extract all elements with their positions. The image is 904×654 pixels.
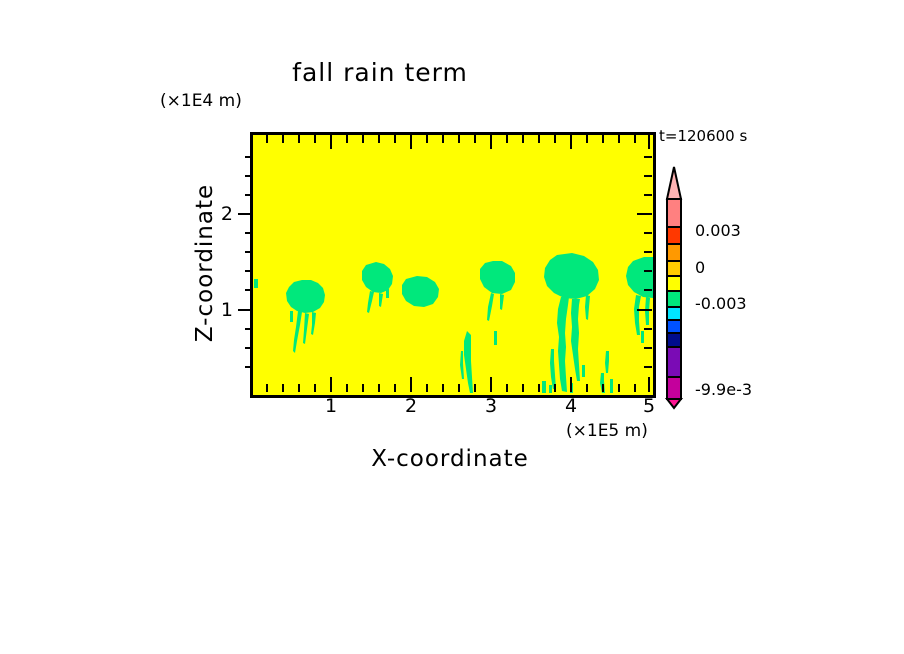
x-minor-tick-top (266, 135, 268, 143)
y-minor-tick (245, 232, 253, 234)
timestamp-label: t=120600 s (659, 127, 747, 145)
feature-streak-7c (610, 379, 613, 393)
x-minor-tick-top (362, 135, 364, 143)
x-minor-tick (538, 384, 540, 392)
feature-streak-6h (582, 365, 585, 377)
x-minor-tick (474, 384, 476, 392)
feature-streak-2c (386, 289, 389, 298)
y-minor-tick-right (644, 251, 652, 253)
colorbar-tick-label-3: -9.9e-3 (695, 380, 752, 399)
y-minor-tick (245, 270, 253, 272)
x-major-tick-top-4 (570, 135, 572, 149)
x-minor-tick (458, 384, 460, 392)
feature-streak-6f (549, 385, 552, 393)
y-minor-tick-right (644, 270, 652, 272)
feature-streak-5c (494, 331, 497, 345)
x-major-tick-top-3 (490, 135, 492, 149)
x-major-tick-2 (410, 377, 412, 392)
x-minor-tick-top (634, 135, 636, 143)
x-minor-tick (586, 384, 588, 392)
x-minor-tick (522, 384, 524, 392)
colorbar-band-9 (667, 333, 681, 347)
y-minor-tick-right (644, 156, 652, 158)
colorbar (663, 165, 685, 410)
x-minor-tick (314, 384, 316, 392)
x-minor-tick-top (474, 135, 476, 143)
x-tick-label-1: 1 (311, 395, 351, 417)
x-minor-tick (426, 384, 428, 392)
x-minor-tick (378, 384, 380, 392)
x-major-tick-4 (570, 377, 572, 392)
x-minor-tick-top (586, 135, 588, 143)
contour-plot-figure: fall rain term (×1E4 m) t=120600 s (0, 0, 904, 654)
x-minor-tick-top (458, 135, 460, 143)
colorbar-band-5 (667, 276, 681, 291)
x-minor-tick (618, 384, 620, 392)
x-major-tick-3 (490, 377, 492, 392)
colorbar-tick-label-1: 0 (695, 258, 705, 277)
x-minor-tick-top (522, 135, 524, 143)
x-minor-tick-top (346, 135, 348, 143)
x-minor-tick (442, 384, 444, 392)
y-major-tick-right-1 (637, 309, 652, 311)
colorbar-band-11 (667, 377, 681, 399)
colorbar-band-8 (667, 320, 681, 333)
plot-area (250, 132, 656, 398)
x-minor-tick-top (506, 135, 508, 143)
x-minor-tick-top (538, 135, 540, 143)
x-minor-tick (298, 384, 300, 392)
y-minor-tick-right (644, 289, 652, 291)
feature-streak-6e (542, 381, 546, 393)
x-minor-tick-top (378, 135, 380, 143)
y-major-tick-right-2 (637, 213, 652, 215)
x-minor-tick-top (282, 135, 284, 143)
y-axis-title: Z-coordinate (192, 53, 218, 473)
y-minor-tick-right (644, 347, 652, 349)
feature-speck-left (254, 279, 258, 288)
feature-streak-1d (290, 311, 293, 322)
colorbar-extend-top (667, 167, 681, 199)
x-minor-tick (394, 384, 396, 392)
x-minor-tick-top (298, 135, 300, 143)
x-minor-tick (346, 384, 348, 392)
y-minor-tick (245, 175, 253, 177)
page-title: fall rain term (0, 58, 760, 87)
x-minor-tick (554, 384, 556, 392)
y-minor-tick (245, 347, 253, 349)
y-major-tick-1 (238, 309, 253, 311)
x-major-tick-top-5 (648, 135, 650, 149)
y-minor-tick (245, 156, 253, 158)
x-minor-tick (602, 384, 604, 392)
y-minor-tick-right (644, 328, 652, 330)
colorbar-band-2 (667, 227, 681, 244)
x-major-tick-1 (330, 377, 332, 392)
x-axis-units-label: (×1E5 m) (566, 421, 648, 441)
colorbar-tick-label-2: -0.003 (695, 294, 747, 313)
colorbar-band-6 (667, 291, 681, 307)
y-minor-tick-right (644, 175, 652, 177)
y-minor-tick-right (644, 232, 652, 234)
colorbar-band-10 (667, 347, 681, 377)
x-tick-label-2: 2 (391, 395, 431, 417)
colorbar-band-1 (667, 199, 681, 227)
x-minor-tick-top (554, 135, 556, 143)
feature-streak-8c (641, 331, 644, 343)
x-tick-label-3: 3 (471, 395, 511, 417)
x-major-tick-top-1 (330, 135, 332, 149)
x-minor-tick-top (426, 135, 428, 143)
x-minor-tick (266, 384, 268, 392)
x-major-tick-top-2 (410, 135, 412, 149)
y-major-tick-2 (238, 213, 253, 215)
y-minor-tick (245, 366, 253, 368)
x-minor-tick-top (394, 135, 396, 143)
y-minor-tick (245, 251, 253, 253)
x-minor-tick-top (602, 135, 604, 143)
x-major-tick-5 (648, 377, 650, 392)
colorbar-band-7 (667, 307, 681, 320)
x-minor-tick-top (618, 135, 620, 143)
x-tick-label-4: 4 (551, 395, 591, 417)
y-minor-tick-right (644, 194, 652, 196)
x-minor-tick (506, 384, 508, 392)
x-minor-tick-top (442, 135, 444, 143)
x-axis-title: X-coordinate (250, 446, 650, 472)
x-minor-tick-top (314, 135, 316, 143)
colorbar-band-4 (667, 261, 681, 276)
y-minor-tick (245, 328, 253, 330)
data-field (253, 135, 653, 395)
x-minor-tick (362, 384, 364, 392)
y-minor-tick-right (644, 366, 652, 368)
colorbar-tick-label-0: 0.003 (695, 221, 741, 240)
colorbar-band-3 (667, 244, 681, 261)
colorbar-extend-bottom (667, 399, 681, 408)
x-minor-tick (634, 384, 636, 392)
colorbar-svg (663, 165, 685, 410)
y-minor-tick (245, 289, 253, 291)
x-minor-tick (282, 384, 284, 392)
y-minor-tick (245, 194, 253, 196)
colorbar-bands (667, 199, 681, 399)
